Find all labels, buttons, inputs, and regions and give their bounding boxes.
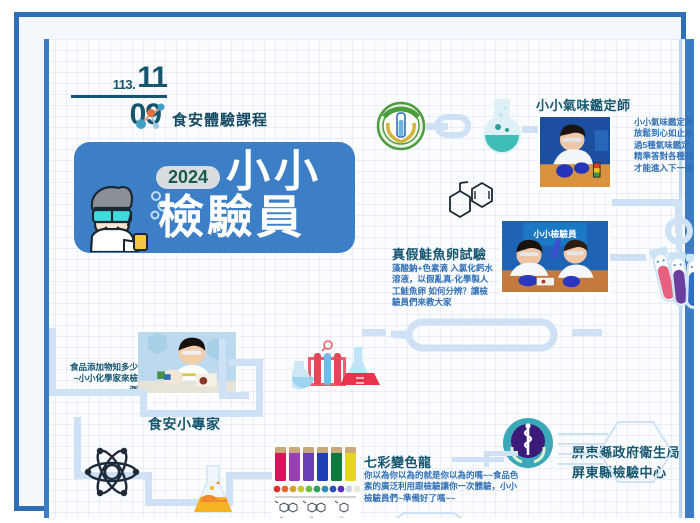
connector-segment bbox=[219, 339, 226, 399]
connector-segment bbox=[140, 410, 262, 417]
section-body-roe: 藻酸鈉+色素滴 入氯化鈣水溶液，以假亂真-化學製人工鮭魚卵 如何分辨？讓檢驗員們… bbox=[392, 263, 496, 309]
connector-segment bbox=[229, 359, 263, 366]
photo-smell-tester bbox=[538, 115, 612, 189]
connector-loop-icon bbox=[423, 111, 479, 141]
main-title-banner: ... 2024 小小 檢驗員 bbox=[74, 142, 355, 253]
connector-segment bbox=[256, 359, 263, 417]
lab-accreditation-logo-icon bbox=[376, 101, 426, 151]
section-body-rainbow: 你以為你以為的就是你以為的嗎~~食品色素的廣泛利用跟檢驗讓你一次體驗，小小檢驗員… bbox=[364, 470, 519, 504]
connector-long-capsule-icon bbox=[377, 316, 585, 352]
benzene-ring-icon bbox=[442, 181, 498, 233]
lab-glassware-icon bbox=[292, 339, 386, 395]
section-body-smell: 小小氣味鑑定師需要放鬆到心如止水，通過5種氣味鑑定，且精準答對各種味道，才能進入… bbox=[634, 117, 694, 174]
connector-segment bbox=[612, 199, 682, 206]
date-year: 113. bbox=[113, 78, 136, 93]
year-badge: 2024 bbox=[156, 166, 220, 189]
connector-segment bbox=[452, 457, 504, 462]
connector-segment bbox=[49, 389, 145, 396]
svg-text:O: O bbox=[340, 515, 343, 518]
connector-segment bbox=[362, 329, 386, 336]
molecule-icon bbox=[132, 101, 166, 131]
atom-icon bbox=[84, 444, 140, 500]
poster-inner-canvas: 113. 11 09 食安體驗課程 bbox=[44, 39, 694, 518]
connector-segment bbox=[49, 328, 56, 396]
course-label: 食安體驗課程 bbox=[172, 109, 268, 130]
cute-test-tubes-icon bbox=[644, 244, 694, 314]
round-flask-icon bbox=[476, 99, 528, 159]
connector-segment bbox=[219, 392, 249, 399]
connector-segment bbox=[484, 451, 489, 467]
erlenmeyer-flask-icon bbox=[192, 464, 234, 516]
connector-segment bbox=[572, 329, 602, 336]
date-month: 11 bbox=[137, 63, 167, 93]
left-accent-bar bbox=[44, 39, 49, 518]
photo-roe-experiment: 小小檢驗員 bbox=[500, 219, 610, 294]
svg-text:H: H bbox=[280, 515, 283, 518]
section-title-smell: 小小氣味鑑定師 bbox=[536, 95, 631, 114]
hexagon-decoration-icon bbox=[558, 414, 678, 490]
health-bureau-logo-icon bbox=[502, 417, 554, 469]
section-title-additive: 食安小專家 bbox=[148, 414, 221, 434]
svg-text:小小檢驗員: 小小檢驗員 bbox=[532, 228, 577, 239]
section-title-rainbow: 七彩變色龍 bbox=[364, 452, 432, 471]
hexagon-outline-icon bbox=[374, 509, 484, 518]
section-title-roe: 真假鮭魚卵試驗 bbox=[392, 244, 487, 263]
ph-indicator-chart-icon: HHO bbox=[272, 443, 360, 518]
svg-text:H: H bbox=[310, 515, 313, 518]
poster-outer-frame: 113. 11 09 食安體驗課程 bbox=[14, 12, 686, 511]
connector-segment bbox=[484, 451, 518, 456]
banner-title-line2: 檢驗員 bbox=[158, 194, 305, 240]
connector-segment bbox=[74, 417, 81, 479]
connector-segment bbox=[610, 254, 646, 261]
banner-title-line1: 小小 bbox=[226, 150, 322, 194]
poster-root: 113. 11 09 食安體驗課程 bbox=[0, 0, 700, 523]
